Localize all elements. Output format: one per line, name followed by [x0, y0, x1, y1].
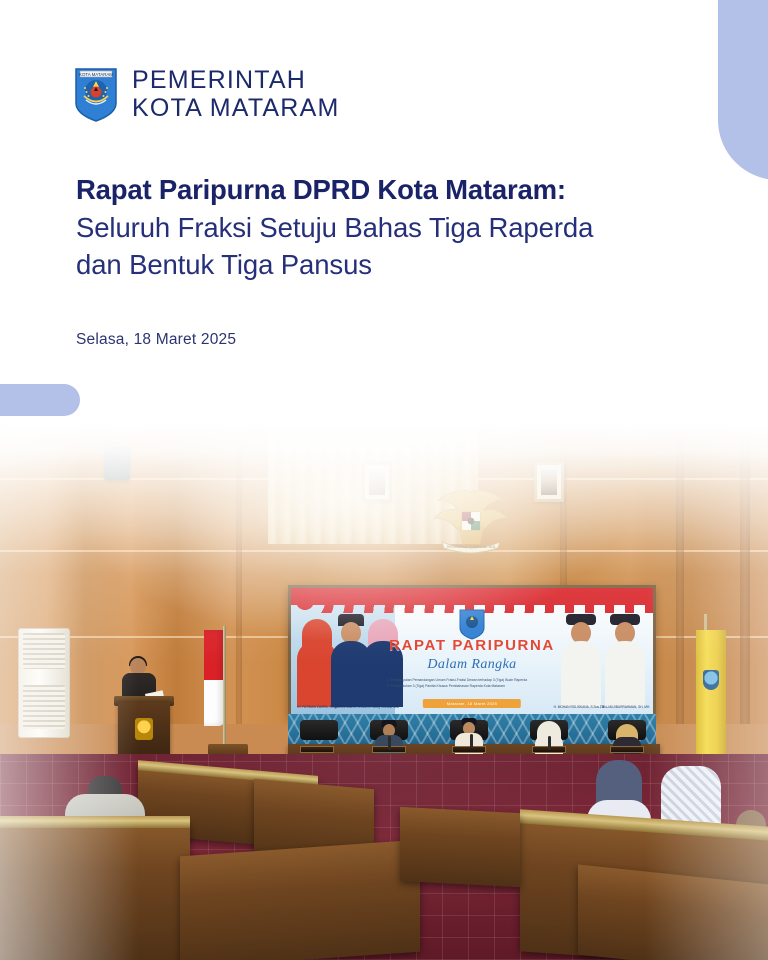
member-desk-top — [0, 816, 190, 828]
presidential-portrait-left — [362, 462, 392, 502]
member-desk — [400, 807, 520, 887]
brand-text: PEMERINTAH KOTA MATARAM — [132, 66, 339, 122]
air-conditioner-unit — [18, 628, 70, 738]
kota-mataram-flag-icon — [696, 620, 730, 770]
banner-title: RAPAT PARIPURNA — [291, 637, 653, 654]
page-title: Rapat Paripurna DPRD Kota Mataram: Selur… — [76, 172, 686, 284]
banner-figure-3-name: HJ. BAIQ HANDAYANI — [367, 705, 399, 709]
banner-subtitle: Dalam Rangka — [291, 657, 653, 673]
garuda-pancasila-emblem-icon: BHINNEKA TUNGGAL IKA — [424, 486, 518, 558]
head-table-chair — [300, 720, 338, 740]
indonesia-flag-icon — [204, 626, 226, 746]
headline-main: Rapat Paripurna DPRD Kota Mataram: — [76, 172, 686, 209]
wall-speaker-icon — [104, 446, 130, 480]
podium — [118, 702, 170, 758]
member-desk — [180, 840, 420, 960]
member-desk — [0, 822, 190, 960]
headline-sub-line-1: Seluruh Fraksi Setuju Bahas Tiga Raperda — [76, 210, 686, 247]
decorative-pill-right — [718, 0, 768, 180]
presidential-portrait-right — [534, 462, 564, 502]
svg-text:BHINNEKA TUNGGAL IKA: BHINNEKA TUNGGAL IKA — [447, 544, 495, 549]
publication-date: Selasa, 18 Maret 2025 — [76, 331, 236, 349]
decorative-pill-left — [0, 384, 80, 416]
banner-figure-5-name: TGH. MUJIBURRAHMAN, SH, MH. — [600, 705, 650, 709]
event-backdrop-banner: HJ. FATIMAH ZAHRA, S.Ag. ABDUL MALIK, S.… — [288, 585, 656, 717]
banner-city-logo-icon — [459, 608, 485, 640]
nameplate — [452, 746, 486, 753]
brand-lockup: KOTA MATARAM PEMERINTAH KOTA MATARAM — [74, 66, 339, 122]
banner-bullet-2: 2. Pembentukan 3 (Tiga) Panitia Khusus P… — [387, 683, 577, 689]
headline-sub-line-2: dan Bentuk Tiga Pansus — [76, 247, 686, 284]
nameplate — [300, 746, 334, 753]
podium-emblem-icon — [135, 718, 153, 740]
mataram-city-crest-icon: KOTA MATARAM — [74, 66, 118, 122]
nameplate — [610, 746, 644, 753]
svg-text:KOTA MATARAM: KOTA MATARAM — [79, 72, 113, 77]
brand-line-2: KOTA MATARAM — [132, 94, 339, 122]
banner-date-chip: Mataram, 18 Maret 2025 — [423, 699, 521, 708]
brand-line-1: PEMERINTAH — [132, 66, 339, 94]
event-photo: BHINNEKA TUNGGAL IKA — [0, 424, 768, 960]
poster-page: KOTA MATARAM PEMERINTAH KOTA MATARAM — [0, 0, 768, 960]
